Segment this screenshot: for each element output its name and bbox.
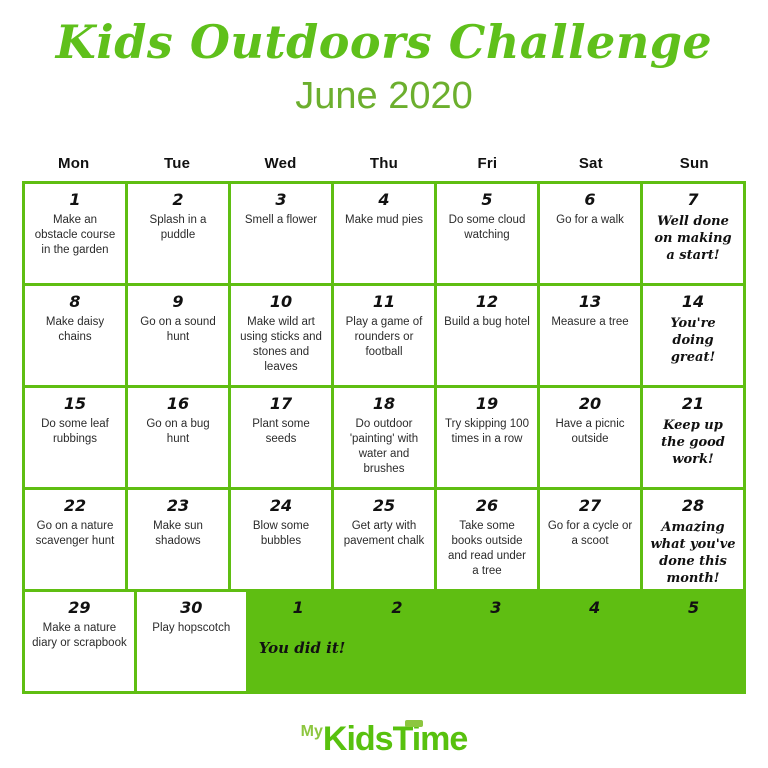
day-activity: Go on a bug hunt — [133, 417, 223, 447]
day-activity: Try skipping 100 times in a row — [442, 417, 532, 447]
dow-tue: Tue — [125, 155, 228, 181]
day-activity: Do outdoor 'painting' with water and bru… — [339, 417, 429, 477]
footer: MyKidsTime — [0, 722, 768, 756]
day-number: 7 — [648, 190, 738, 210]
dow-sat: Sat — [539, 155, 642, 181]
dow-sun: Sun — [643, 155, 746, 181]
day-number: 4 — [339, 190, 429, 210]
day-cell[interactable]: 4 Make mud pies — [334, 184, 434, 283]
day-cell-milestone[interactable]: 7 Well done on making a start! — [643, 184, 743, 283]
calendar-week-row: 15 Do some leaf rubbings 16 Go on a bug … — [25, 388, 743, 487]
calendar-page: Kids Outdoors Challenge June 2020 Mon Tu… — [0, 0, 768, 768]
page-title: Kids Outdoors Challenge — [0, 16, 768, 68]
day-number: 30 — [142, 598, 241, 618]
day-milestone-message: Amazing what you've done this month! — [648, 519, 738, 587]
day-activity: Go on a nature scavenger hunt — [30, 519, 120, 549]
day-cell-milestone[interactable]: 21 Keep up the good work! — [643, 388, 743, 487]
dow-thu: Thu — [332, 155, 435, 181]
day-milestone-message: Well done on making a start! — [648, 213, 738, 264]
day-activity: Get arty with pavement chalk — [339, 519, 429, 549]
day-number: 12 — [442, 292, 532, 312]
day-cell[interactable]: 27 Go for a cycle or a scoot — [540, 490, 640, 589]
day-number: 14 — [648, 292, 738, 312]
day-activity: Take some books outside and read under a… — [442, 519, 532, 579]
day-cell[interactable]: 20 Have a picnic outside — [540, 388, 640, 487]
logo-sparkle-icon — [405, 720, 423, 727]
day-activity: Make wild art using sticks and stones an… — [236, 315, 326, 375]
next-month-day-number: 2 — [348, 598, 447, 618]
page-subtitle: June 2020 — [0, 74, 768, 118]
day-activity: Make sun shadows — [133, 519, 223, 549]
day-milestone-message: Keep up the good work! — [648, 417, 738, 468]
day-number: 17 — [236, 394, 326, 414]
day-of-week-header-row: Mon Tue Wed Thu Fri Sat Sun — [22, 155, 746, 181]
day-cell[interactable]: 15 Do some leaf rubbings — [25, 388, 125, 487]
day-cell[interactable]: 2 Splash in a puddle — [128, 184, 228, 283]
page-header: Kids Outdoors Challenge June 2020 — [0, 0, 768, 118]
day-cell[interactable]: 1 Make an obstacle course in the garden — [25, 184, 125, 283]
day-number: 22 — [30, 496, 120, 516]
day-activity: Blow some bubbles — [236, 519, 326, 549]
day-cell[interactable]: 9 Go on a sound hunt — [128, 286, 228, 385]
day-cell[interactable]: 13 Measure a tree — [540, 286, 640, 385]
calendar: Mon Tue Wed Thu Fri Sat Sun 1 Make an ob… — [22, 155, 746, 694]
day-number: 20 — [545, 394, 635, 414]
dow-mon: Mon — [22, 155, 125, 181]
day-number: 11 — [339, 292, 429, 312]
day-cell[interactable]: 17 Plant some seeds — [231, 388, 331, 487]
calendar-grid: 1 Make an obstacle course in the garden … — [22, 181, 746, 694]
day-number: 9 — [133, 292, 223, 312]
day-number: 1 — [30, 190, 120, 210]
day-number: 8 — [30, 292, 120, 312]
calendar-week-row: 22 Go on a nature scavenger hunt 23 Make… — [25, 490, 743, 589]
day-number: 6 — [545, 190, 635, 210]
day-number: 26 — [442, 496, 532, 516]
day-number: 29 — [30, 598, 129, 618]
day-number: 13 — [545, 292, 635, 312]
day-number: 5 — [442, 190, 532, 210]
day-number: 27 — [545, 496, 635, 516]
day-cell-milestone[interactable]: 28 Amazing what you've done this month! — [643, 490, 743, 589]
day-activity: Go on a sound hunt — [133, 315, 223, 345]
day-activity: Play hopscotch — [142, 621, 241, 636]
day-activity: Measure a tree — [545, 315, 635, 330]
dow-wed: Wed — [229, 155, 332, 181]
day-activity: Make daisy chains — [30, 315, 120, 345]
day-number: 19 — [442, 394, 532, 414]
day-cell[interactable]: 3 Smell a flower — [231, 184, 331, 283]
day-number: 21 — [648, 394, 738, 414]
day-activity: Build a bug hotel — [442, 315, 532, 330]
day-activity: Make mud pies — [339, 213, 429, 228]
day-cell[interactable]: 23 Make sun shadows — [128, 490, 228, 589]
day-number: 25 — [339, 496, 429, 516]
day-cell[interactable]: 29 Make a nature diary or scrapbook — [25, 592, 134, 691]
day-number: 28 — [648, 496, 738, 516]
day-activity: Plant some seeds — [236, 417, 326, 447]
next-month-day-number: 4 — [545, 598, 644, 618]
closing-message: You did it! — [259, 639, 346, 657]
day-cell[interactable]: 19 Try skipping 100 times in a row — [437, 388, 537, 487]
day-cell[interactable]: 24 Blow some bubbles — [231, 490, 331, 589]
day-cell[interactable]: 12 Build a bug hotel — [437, 286, 537, 385]
day-cell[interactable]: 16 Go on a bug hunt — [128, 388, 228, 487]
day-cell[interactable]: 26 Take some books outside and read unde… — [437, 490, 537, 589]
day-cell[interactable]: 18 Do outdoor 'painting' with water and … — [334, 388, 434, 487]
calendar-week-row: 1 Make an obstacle course in the garden … — [25, 184, 743, 283]
day-activity: Play a game of rounders or football — [339, 315, 429, 360]
logo-prefix-text: My — [301, 723, 323, 740]
next-month-overflow-block: 1 2 3 4 5 You did it! — [249, 592, 743, 691]
day-cell[interactable]: 30 Play hopscotch — [137, 592, 246, 691]
day-activity: Splash in a puddle — [133, 213, 223, 243]
day-activity: Make a nature diary or scrapbook — [30, 621, 129, 651]
day-number: 10 — [236, 292, 326, 312]
day-activity: Do some cloud watching — [442, 213, 532, 243]
day-number: 16 — [133, 394, 223, 414]
day-activity: Have a picnic outside — [545, 417, 635, 447]
day-cell[interactable]: 8 Make daisy chains — [25, 286, 125, 385]
day-cell[interactable]: 5 Do some cloud watching — [437, 184, 537, 283]
day-number: 15 — [30, 394, 120, 414]
logo-main-text: KidsTime — [323, 720, 467, 758]
day-activity: Go for a walk — [545, 213, 635, 228]
day-number: 3 — [236, 190, 326, 210]
calendar-week-row: 8 Make daisy chains 9 Go on a sound hunt… — [25, 286, 743, 385]
next-month-day-number: 5 — [644, 598, 743, 618]
day-cell[interactable]: 6 Go for a walk — [540, 184, 640, 283]
next-month-day-number: 1 — [249, 598, 348, 618]
day-number: 23 — [133, 496, 223, 516]
day-cell[interactable]: 25 Get arty with pavement chalk — [334, 490, 434, 589]
day-milestone-message: You're doing great! — [648, 315, 738, 366]
day-number: 2 — [133, 190, 223, 210]
dow-fri: Fri — [436, 155, 539, 181]
day-number: 18 — [339, 394, 429, 414]
day-activity: Go for a cycle or a scoot — [545, 519, 635, 549]
day-activity: Smell a flower — [236, 213, 326, 228]
calendar-week-row-final: 29 Make a nature diary or scrapbook 30 P… — [25, 592, 743, 691]
day-cell[interactable]: 10 Make wild art using sticks and stones… — [231, 286, 331, 385]
day-activity: Make an obstacle course in the garden — [30, 213, 120, 258]
day-activity: Do some leaf rubbings — [30, 417, 120, 447]
next-month-day-number: 3 — [446, 598, 545, 618]
day-cell[interactable]: 22 Go on a nature scavenger hunt — [25, 490, 125, 589]
day-number: 24 — [236, 496, 326, 516]
mykidstime-logo[interactable]: MyKidsTime — [301, 722, 468, 756]
day-cell[interactable]: 11 Play a game of rounders or football — [334, 286, 434, 385]
day-cell-milestone[interactable]: 14 You're doing great! — [643, 286, 743, 385]
